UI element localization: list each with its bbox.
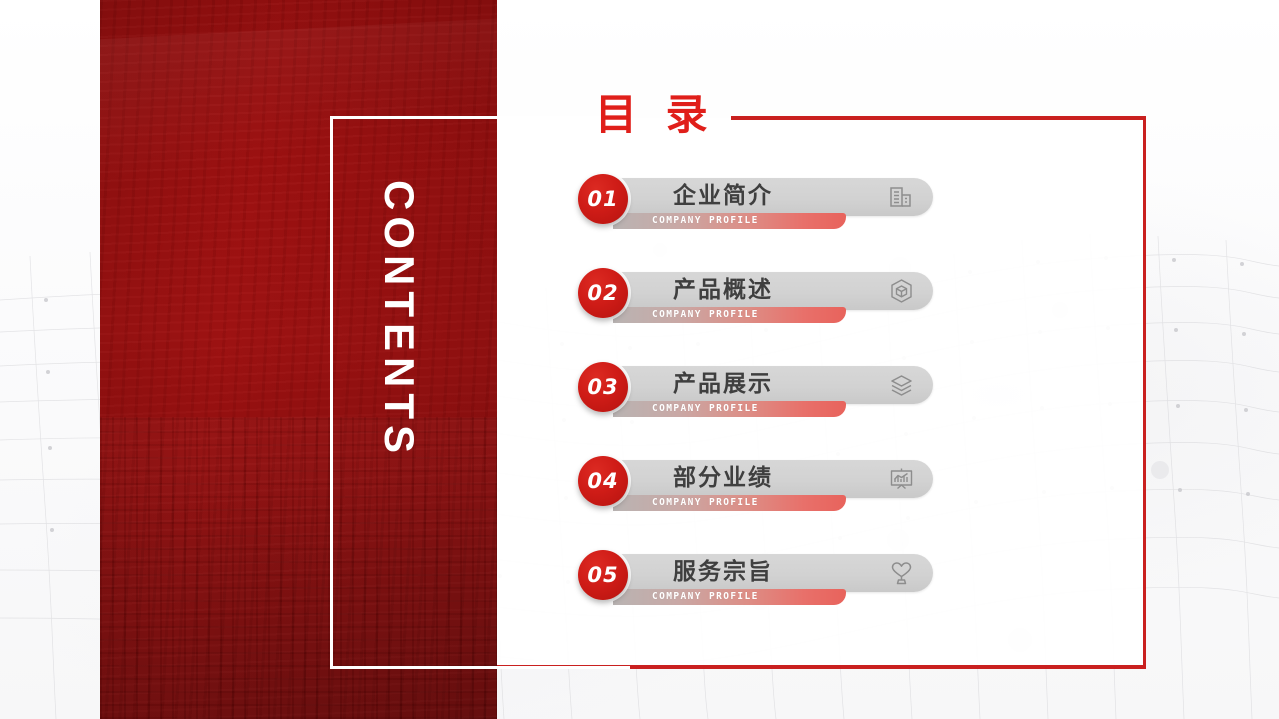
item-number-badge: 05 bbox=[578, 550, 628, 600]
table-of-contents-list: 企业简介 COMPANY PROFILE 01 产品概述 COMPANY PRO… bbox=[578, 174, 938, 644]
item-title: 服务宗旨 bbox=[673, 557, 773, 587]
item-title: 企业简介 bbox=[673, 181, 773, 211]
item-subtitle: COMPANY PROFILE bbox=[652, 213, 759, 229]
item-subtitle: COMPANY PROFILE bbox=[652, 495, 759, 511]
item-title: 产品概述 bbox=[673, 275, 773, 305]
contents-vertical-label: CONTENTS bbox=[378, 180, 420, 459]
presentation-chart-icon bbox=[886, 464, 916, 494]
item-number-badge: 02 bbox=[578, 268, 628, 318]
item-title: 部分业绩 bbox=[673, 463, 773, 493]
list-item[interactable]: 产品展示 COMPANY PROFILE 03 bbox=[578, 362, 938, 456]
left-image-panel bbox=[100, 0, 497, 719]
stacked-layers-icon bbox=[886, 370, 916, 400]
item-subtitle: COMPANY PROFILE bbox=[652, 307, 759, 323]
hexagon-cube-icon bbox=[886, 276, 916, 306]
heart-trophy-icon bbox=[886, 558, 916, 588]
item-title: 产品展示 bbox=[673, 369, 773, 399]
frame-right-line bbox=[1143, 116, 1146, 669]
list-item[interactable]: 产品概述 COMPANY PROFILE 02 bbox=[578, 268, 938, 362]
item-number-badge: 03 bbox=[578, 362, 628, 412]
list-item[interactable]: 部分业绩 COMPANY PROFILE 04 bbox=[578, 456, 938, 550]
list-item[interactable]: 服务宗旨 COMPANY PROFILE 05 bbox=[578, 550, 938, 644]
office-building-icon bbox=[886, 182, 916, 212]
red-color-overlay bbox=[100, 0, 497, 719]
item-subtitle: COMPANY PROFILE bbox=[652, 589, 759, 605]
slide-canvas: CONTENTS 目 录 企业简介 COMPANY PROFILE 01 bbox=[0, 0, 1279, 719]
item-number-badge: 01 bbox=[578, 174, 628, 224]
item-subtitle: COMPANY PROFILE bbox=[652, 401, 759, 417]
page-title: 目 录 bbox=[595, 92, 715, 138]
list-item[interactable]: 企业简介 COMPANY PROFILE 01 bbox=[578, 174, 938, 268]
item-number-badge: 04 bbox=[578, 456, 628, 506]
